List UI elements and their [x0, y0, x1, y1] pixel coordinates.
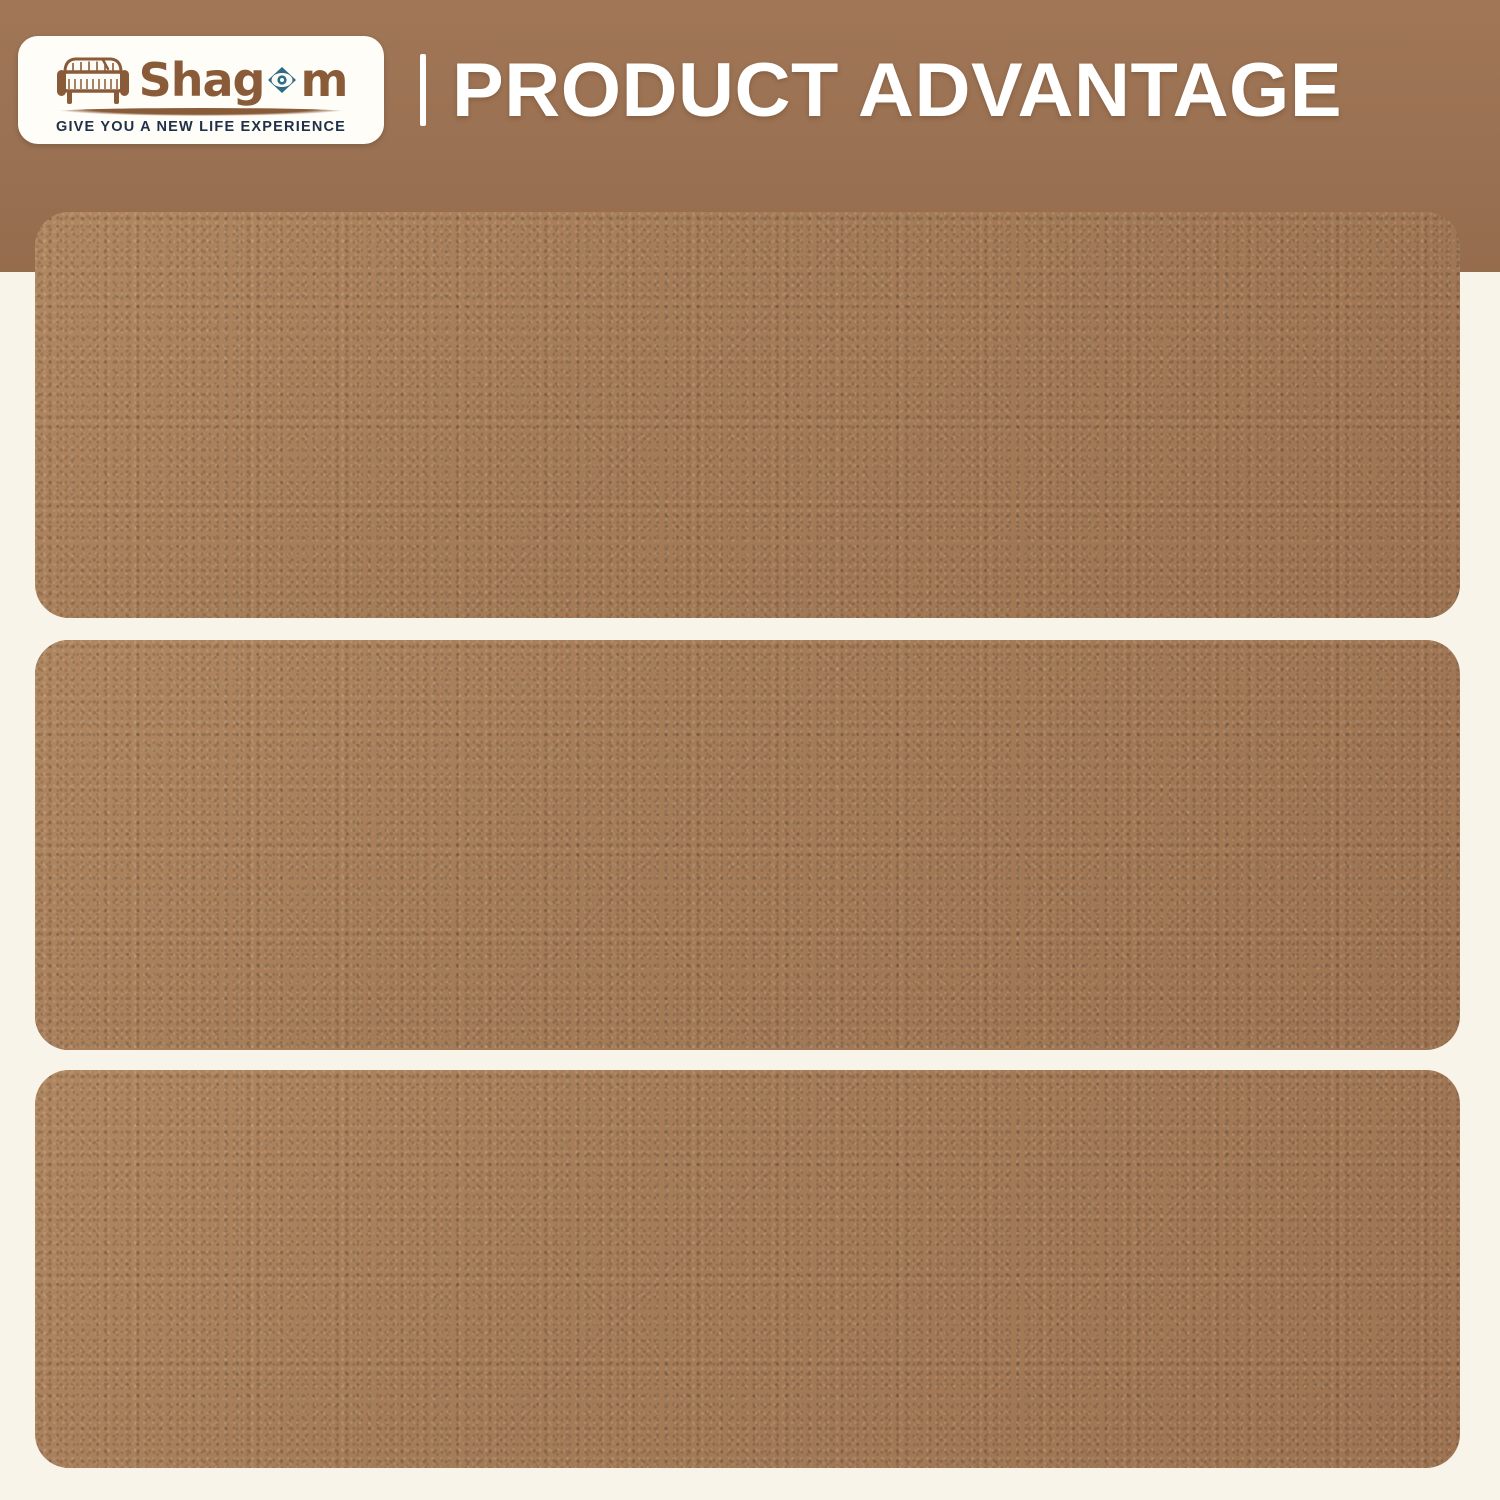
brand-name-part-1: Shag: [139, 57, 265, 103]
logo-underline: [51, 108, 351, 116]
title-divider: [420, 54, 426, 126]
card-soft-suede: [35, 212, 1460, 618]
sofa-icon: [55, 52, 131, 108]
brand-name: Shagm: [139, 57, 348, 103]
card-fabric-specific-adhesive: [35, 640, 1460, 1050]
brand-name-part-2: m: [300, 57, 347, 103]
card-diy: [35, 1070, 1460, 1468]
brand-tagline: GIVE YOU A NEW LIFE EXPERIENCE: [56, 119, 346, 135]
page-title: PRODUCT ADVANTAGE: [452, 47, 1342, 134]
eye-diamond-icon: [265, 63, 299, 97]
logo-row: Shagm: [55, 50, 348, 110]
brand-logo[interactable]: Shagm GIVE YOU A NEW LIFE EXPERIENCE: [18, 36, 384, 144]
header: Shagm GIVE YOU A NEW LIFE EXPERIENCE PRO…: [0, 0, 1500, 180]
